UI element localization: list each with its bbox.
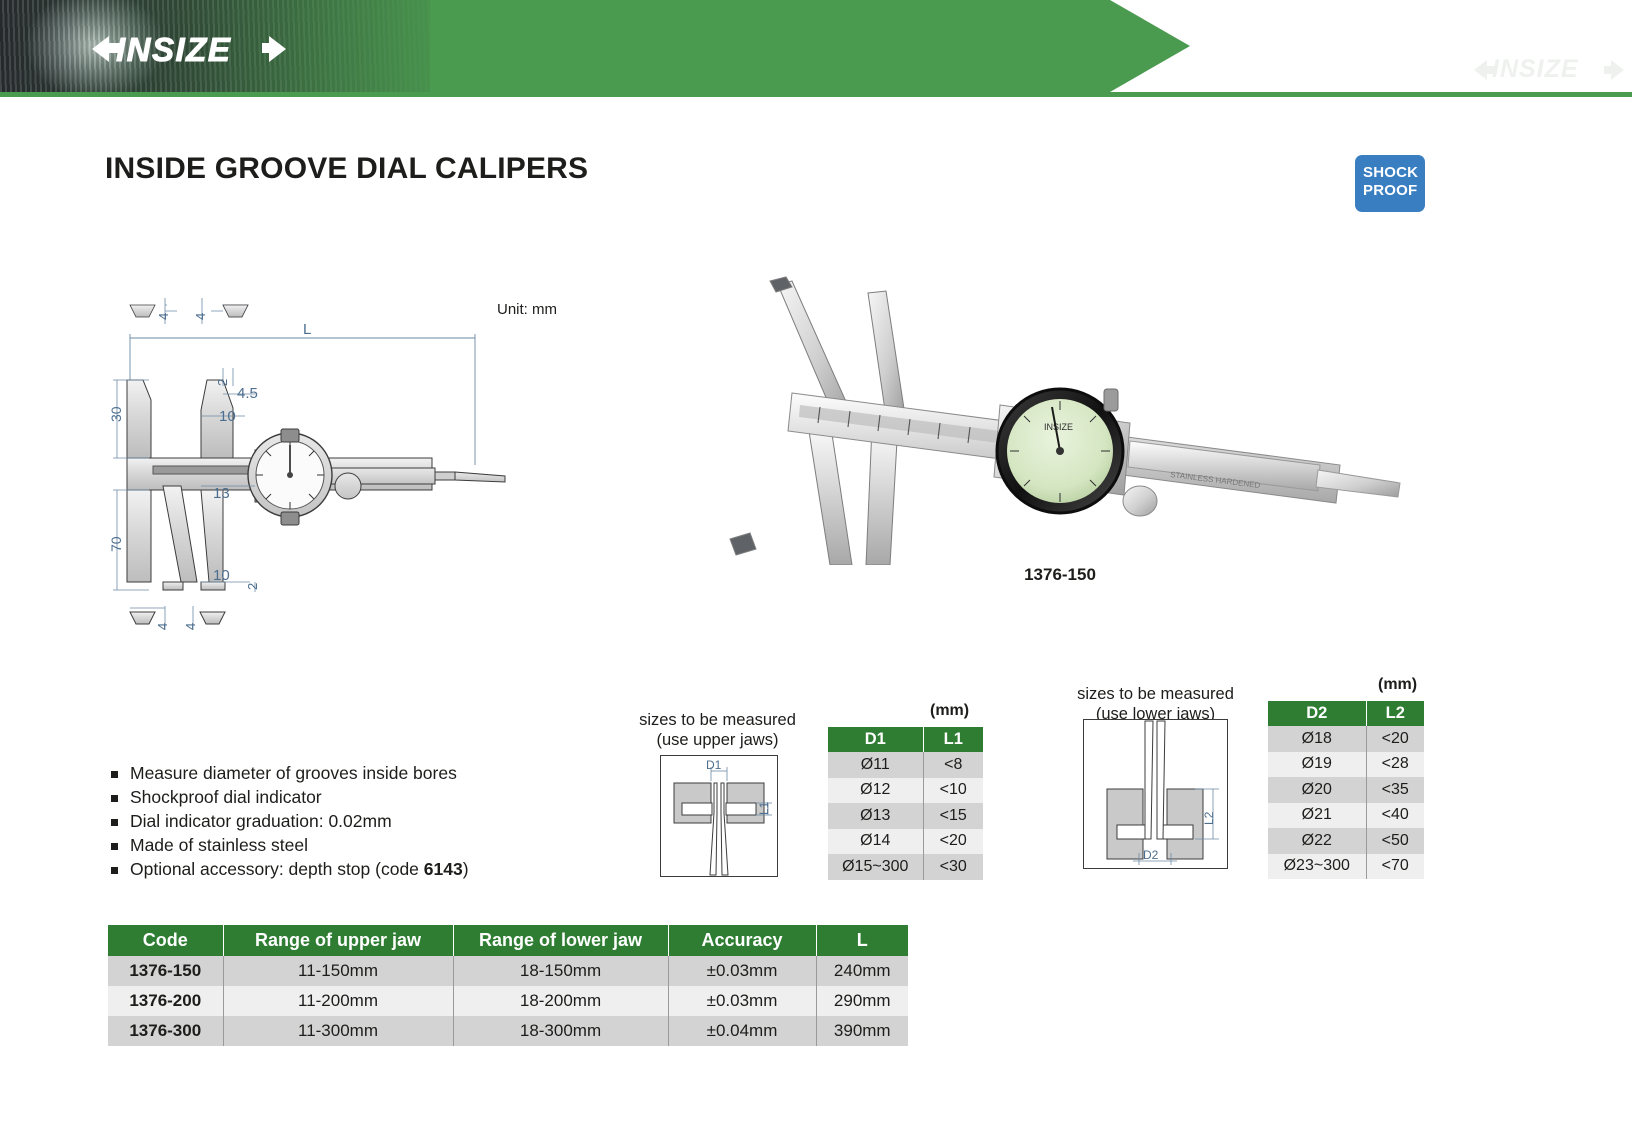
upper-jaw-unit: (mm): [930, 702, 969, 720]
upper-jaw-diagram: D1 L1: [660, 755, 778, 882]
cell-range-upper: 11-150mm: [223, 956, 453, 986]
watermark-text: INSIZE: [1492, 55, 1579, 84]
cell-range-lower: 18-300mm: [453, 1016, 668, 1046]
header-divider: [0, 92, 1632, 97]
cell-accuracy: ±0.04mm: [668, 1016, 816, 1046]
dim-13: 13: [213, 485, 230, 502]
cell-d1: Ø11: [828, 752, 923, 778]
dim-L: L: [303, 321, 311, 338]
lower-jaw-caption: sizes to be measured (use lower jaws): [1068, 684, 1243, 724]
col-d1: D1: [828, 727, 923, 752]
dim-4-botleft: 4: [155, 623, 170, 630]
list-item-label: Optional accessory: depth stop (code 614…: [130, 859, 469, 879]
product-photo-caption: 1376-150: [700, 565, 1420, 585]
col-code: Code: [108, 925, 223, 956]
col-range-upper-jaw: Range of upper jaw: [223, 925, 453, 956]
cell-d2: Ø19: [1268, 752, 1366, 778]
badge-line-1: SHOCK: [1363, 164, 1425, 182]
table-header-row: D2 L2: [1268, 701, 1424, 726]
insize-logo: INSIZE: [92, 31, 282, 67]
upper-diagram-l1-label: L1: [757, 801, 771, 815]
cell-code: 1376-150: [108, 956, 223, 986]
dim-10-upper: 10: [219, 408, 236, 425]
table-row: Ø21<40: [1268, 803, 1424, 829]
cell-accuracy: ±0.03mm: [668, 986, 816, 1016]
cell-l1: <30: [923, 854, 983, 880]
lower-diagram-d2-label: D2: [1143, 848, 1159, 862]
table-header-row: D1 L1: [828, 727, 983, 752]
table-row: Ø14<20: [828, 829, 983, 855]
cell-length: 240mm: [816, 956, 908, 986]
cell-l2: <35: [1366, 777, 1424, 803]
table-row: Ø13<15: [828, 803, 983, 829]
table-row: Ø15~300<30: [828, 854, 983, 880]
table-row: Ø18<20: [1268, 726, 1424, 752]
cell-d2: Ø20: [1268, 777, 1366, 803]
col-l2: L2: [1366, 701, 1424, 726]
col-range-lower-jaw: Range of lower jaw: [453, 925, 668, 956]
list-item: Dial indicator graduation: 0.02mm: [108, 810, 469, 834]
lower-jaw-unit: (mm): [1378, 676, 1417, 694]
cell-length: 290mm: [816, 986, 908, 1016]
cell-l2: <28: [1366, 752, 1424, 778]
technical-drawing: 4 4 L: [105, 290, 625, 650]
dim-4-5: 4.5: [237, 385, 258, 402]
dim-4-botright: 4: [183, 623, 198, 630]
cell-d1: Ø14: [828, 829, 923, 855]
list-item: Optional accessory: depth stop (code 614…: [108, 858, 469, 882]
page-title: INSIDE GROOVE DIAL CALIPERS: [105, 152, 588, 186]
cell-l1: <8: [923, 752, 983, 778]
list-item: Measure diameter of grooves inside bores: [108, 762, 469, 786]
logo-text: INSIZE: [116, 31, 231, 69]
cell-accuracy: ±0.03mm: [668, 956, 816, 986]
lower-diagram-l2-label: L2: [1202, 811, 1216, 825]
cell-l2: <70: [1366, 854, 1424, 880]
col-l1: L1: [923, 727, 983, 752]
cell-l2: <40: [1366, 803, 1424, 829]
table-row: Ø23~300<70: [1268, 854, 1424, 880]
table-row: 1376-200 11-200mm 18-200mm ±0.03mm 290mm: [108, 986, 908, 1016]
cell-range-upper: 11-300mm: [223, 1016, 453, 1046]
cell-range-lower: 18-150mm: [453, 956, 668, 986]
cell-d1: Ø13: [828, 803, 923, 829]
cell-l1: <20: [923, 829, 983, 855]
product-specification-table: Code Range of upper jaw Range of lower j…: [108, 925, 908, 1046]
cell-d2: Ø18: [1268, 726, 1366, 752]
watermark-right-arrow-icon: [1611, 60, 1624, 80]
dim-30: 30: [108, 406, 124, 422]
lower-jaw-caption-line1: sizes to be measured: [1068, 684, 1243, 704]
list-item: Shockproof dial indicator: [108, 786, 469, 810]
shock-proof-badge: SHOCK PROOF: [1355, 155, 1425, 212]
table-row: 1376-300 11-300mm 18-300mm ±0.04mm 390mm: [108, 1016, 908, 1046]
svg-text:INSIZE: INSIZE: [1044, 422, 1073, 432]
table-row: 1376-150 11-150mm 18-150mm ±0.03mm 240mm: [108, 956, 908, 986]
dim-10-lower: 10: [213, 567, 230, 584]
table-header-row: Code Range of upper jaw Range of lower j…: [108, 925, 908, 956]
cell-d2: Ø22: [1268, 828, 1366, 854]
cell-l2: <20: [1366, 726, 1424, 752]
upper-jaw-caption-line2: (use upper jaws): [630, 730, 805, 750]
table-row: Ø19<28: [1268, 752, 1424, 778]
product-photo: INSIZE STAINLESS HARDENED: [700, 265, 1420, 565]
dim-4-topright: 4: [193, 313, 208, 320]
cell-l1: <15: [923, 803, 983, 829]
feature-list: Measure diameter of grooves inside bores…: [108, 762, 469, 882]
cell-range-lower: 18-200mm: [453, 986, 668, 1016]
upper-jaw-caption: sizes to be measured (use upper jaws): [630, 710, 805, 750]
lower-jaw-diagram: L2 D2: [1083, 719, 1228, 874]
col-length: L: [816, 925, 908, 956]
upper-jaw-table: D1 L1 Ø11<8 Ø12<10 Ø13<15 Ø14<20 Ø15~300…: [828, 727, 983, 880]
table-row: Ø12<10: [828, 778, 983, 804]
upper-diagram-d1-label: D1: [706, 758, 722, 772]
table-row: Ø11<8: [828, 752, 983, 778]
catalog-page: INSIZE INSIZE INSIDE GROOVE DIAL CALIPER…: [0, 0, 1632, 1126]
lower-jaw-table: D2 L2 Ø18<20 Ø19<28 Ø20<35 Ø21<40 Ø22<50…: [1268, 701, 1424, 879]
badge-line-2: PROOF: [1363, 182, 1425, 200]
cell-l2: <50: [1366, 828, 1424, 854]
dim-2-lower: 2: [245, 583, 260, 590]
table-row: Ø22<50: [1268, 828, 1424, 854]
cell-l1: <10: [923, 778, 983, 804]
col-accuracy: Accuracy: [668, 925, 816, 956]
dim-2-upper: 2: [215, 379, 230, 386]
cell-d2: Ø23~300: [1268, 854, 1366, 880]
page-header: INSIZE INSIZE: [0, 0, 1632, 98]
cell-length: 390mm: [816, 1016, 908, 1046]
table-row: Ø20<35: [1268, 777, 1424, 803]
cell-code: 1376-300: [108, 1016, 223, 1046]
dim-4-topleft: 4: [156, 313, 171, 320]
list-item: Made of stainless steel: [108, 834, 469, 858]
cell-d1: Ø15~300: [828, 854, 923, 880]
insize-watermark-logo: INSIZE: [1474, 56, 1624, 84]
cell-d1: Ø12: [828, 778, 923, 804]
cell-code: 1376-200: [108, 986, 223, 1016]
cell-d2: Ø21: [1268, 803, 1366, 829]
dim-70: 70: [108, 536, 124, 552]
col-d2: D2: [1268, 701, 1366, 726]
logo-right-arrow-icon: [269, 36, 286, 62]
cell-range-upper: 11-200mm: [223, 986, 453, 1016]
upper-jaw-caption-line1: sizes to be measured: [630, 710, 805, 730]
